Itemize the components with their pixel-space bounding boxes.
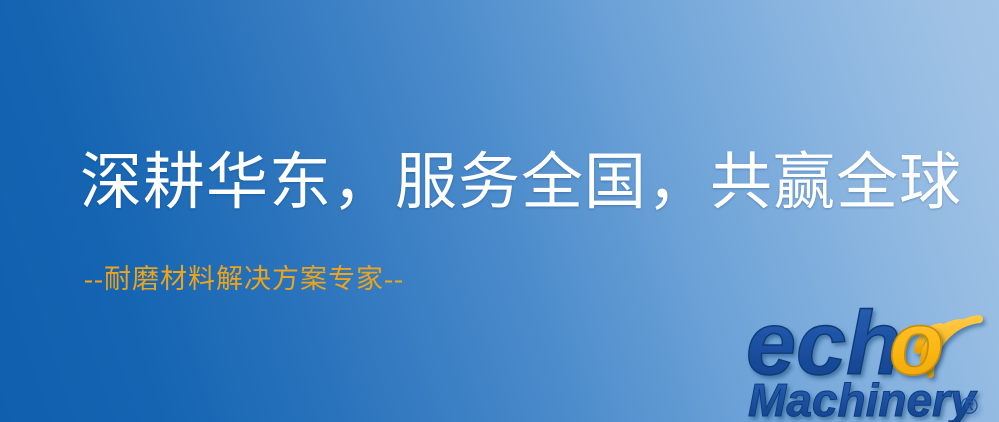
- logo-registered-mark-icon: ®: [960, 393, 978, 420]
- echo-machinery-logo: ech o Machinery ®: [742, 292, 999, 422]
- logo-tagline-machinery: Machinery: [748, 374, 978, 422]
- subtitle-tagline: --耐磨材料解决方案专家--: [84, 266, 404, 293]
- page-title: 深耕华东，服务全国，共赢全球: [80, 152, 962, 214]
- promo-banner: 深耕华东，服务全国，共赢全球 --耐磨材料解决方案专家--: [0, 0, 999, 422]
